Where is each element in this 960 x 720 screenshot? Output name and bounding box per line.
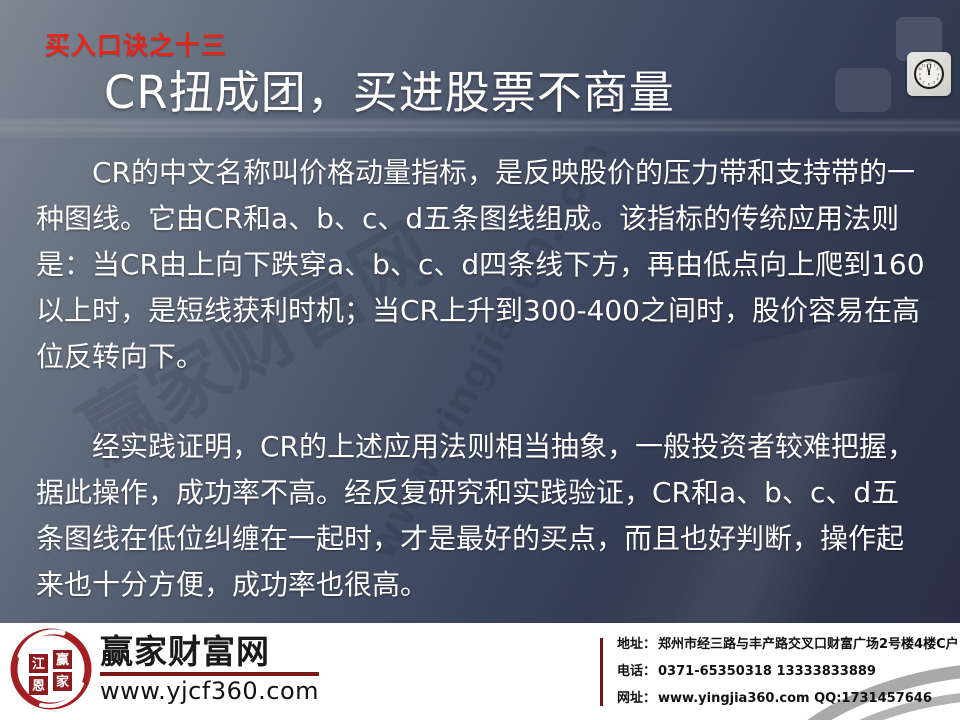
clock-icon: 12 3 6 9 1 2 4 5 7 8 10 11 bbox=[907, 52, 951, 96]
contact-address-value: 郑州市经三路与丰产路交叉口财富广场2号楼4楼C户 bbox=[658, 637, 959, 652]
svg-text:家: 家 bbox=[56, 674, 70, 690]
contact-phone-label: 电话： bbox=[617, 664, 656, 679]
contact-address: 地址：郑州市经三路与丰产路交叉口财富广场2号楼4楼C户 bbox=[617, 638, 959, 652]
svg-text:11: 11 bbox=[922, 64, 926, 68]
slide-body: 赢家财富网 www.yingjia360.com 12 3 6 9 1 2 bbox=[0, 0, 960, 623]
paragraph-1: CR的中文名称叫价格动量指标，是反映股价的压力带和支持带的一种图线。它由CR和a… bbox=[36, 150, 926, 380]
brand-rule bbox=[100, 672, 319, 676]
header-divider bbox=[0, 118, 960, 138]
svg-text:4: 4 bbox=[936, 77, 938, 81]
decorative-square-lower bbox=[835, 68, 891, 112]
svg-text:10: 10 bbox=[918, 67, 922, 71]
seal-icon: 江 赢 恩 家 bbox=[8, 626, 94, 712]
brand-name: 赢家财富网 bbox=[100, 634, 319, 670]
svg-text:赢: 赢 bbox=[56, 652, 69, 668]
svg-text:2: 2 bbox=[937, 67, 939, 71]
contact-website-label: 网址： bbox=[617, 691, 656, 706]
svg-text:江: 江 bbox=[32, 656, 45, 672]
contact-website: 网址：www.yingjia360.com QQ:1731457646 bbox=[617, 692, 959, 706]
svg-text:5: 5 bbox=[933, 81, 935, 85]
presentation-slide: 赢家财富网 www.yingjia360.com 12 3 6 9 1 2 bbox=[0, 0, 960, 720]
footer-bar: 江 赢 恩 家 赢家财富网 www.yjcf360.com 地址：郑州市经三路与… bbox=[0, 623, 960, 720]
slide-title: CR扭成团，买进股票不商量 bbox=[104, 56, 675, 121]
brand-logo[interactable]: 江 赢 恩 家 赢家财富网 www.yjcf360.com bbox=[8, 626, 319, 712]
contact-info: 地址：郑州市经三路与丰产路交叉口财富广场2号楼4楼C户 电话：0371-6535… bbox=[600, 638, 959, 706]
brand-url[interactable]: www.yjcf360.com bbox=[100, 679, 319, 704]
svg-text:9: 9 bbox=[919, 72, 921, 76]
paragraph-2: 经实践证明，CR的上述应用法则相当抽象，一般投资者较难把握，据此操作，成功率不高… bbox=[36, 424, 926, 608]
svg-text:恩: 恩 bbox=[32, 679, 45, 694]
contact-address-label: 地址： bbox=[617, 637, 656, 652]
svg-text:1: 1 bbox=[934, 64, 936, 68]
svg-text:7: 7 bbox=[923, 81, 925, 85]
contact-phone: 电话：0371-65350318 13333833889 bbox=[617, 665, 959, 679]
svg-text:8: 8 bbox=[919, 77, 921, 81]
svg-text:6: 6 bbox=[928, 83, 930, 87]
contact-website-value[interactable]: www.yingjia360.com QQ:1731457646 bbox=[658, 691, 932, 706]
contact-phone-value: 0371-65350318 13333833889 bbox=[658, 664, 876, 679]
svg-text:3: 3 bbox=[937, 72, 939, 76]
header-divider-fade bbox=[0, 118, 960, 138]
brand-text-block: 赢家财富网 www.yjcf360.com bbox=[100, 634, 319, 705]
slide-content: CR的中文名称叫价格动量指标，是反映股价的压力带和支持带的一种图线。它由CR和a… bbox=[36, 150, 926, 608]
